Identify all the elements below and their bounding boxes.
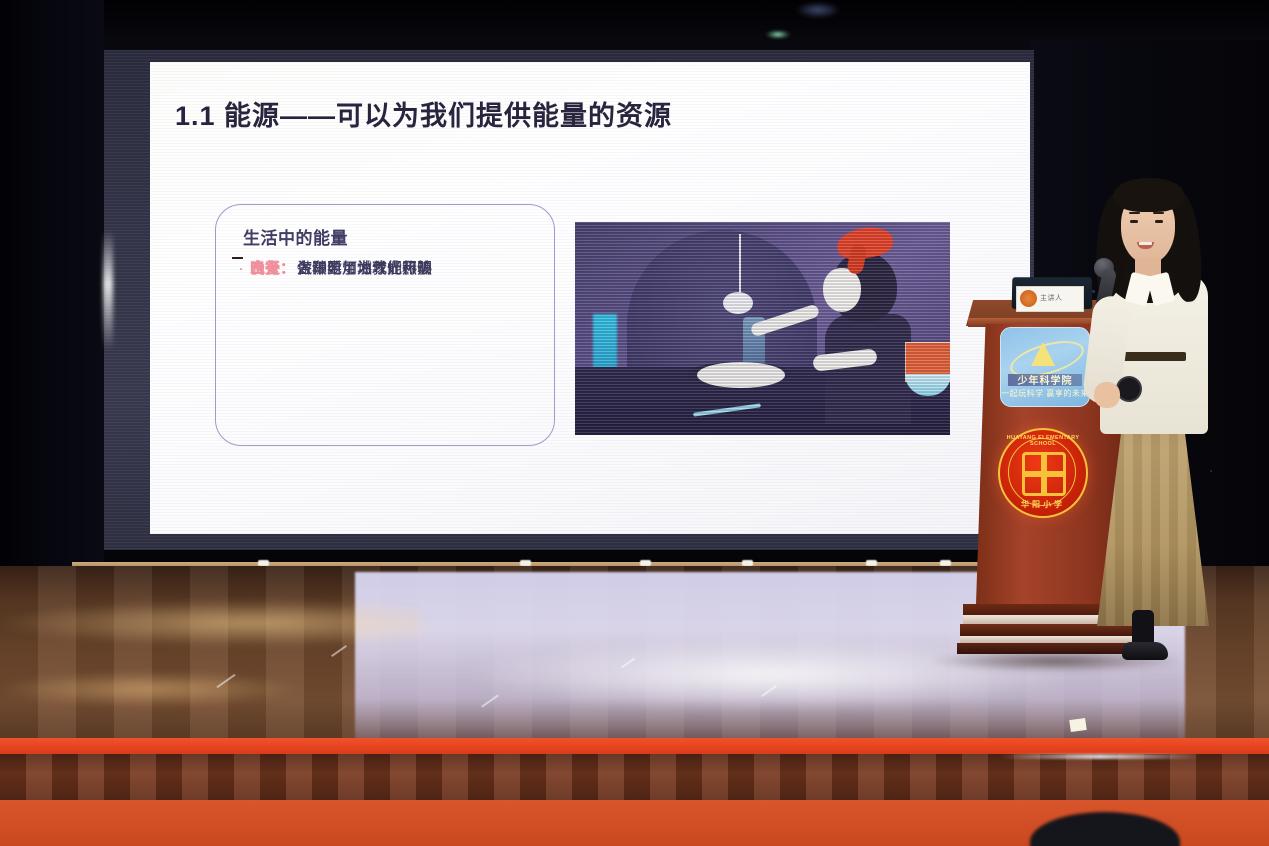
presenter-belt: [1120, 352, 1186, 361]
ceiling-light-glow: [795, 2, 841, 18]
illustration-window-light: [593, 314, 617, 432]
list-item-text: 汽车要加油才能行驶: [297, 257, 432, 278]
illustration-bottle: [743, 317, 765, 373]
illustration-person-body: [825, 314, 911, 424]
illustration-bowl-icon: [905, 374, 950, 396]
illustration-lamp-icon: [723, 292, 753, 314]
wall-light-streak: [103, 230, 113, 350]
stage-apron-wood-panel: [0, 754, 1269, 802]
illustration-pan-handle: [750, 304, 821, 338]
presenter-teeth: [1139, 242, 1152, 245]
floor-warm-reflection: [0, 600, 420, 646]
name-card-logo-icon: [1020, 290, 1037, 307]
floor-warm-reflection: [0, 672, 300, 706]
sign-subtitle: 一起玩科学 赢享的未来: [1001, 388, 1089, 399]
illustration-arch: [627, 230, 817, 435]
projected-slide: 1.1 能源——可以为我们提供能量的资源 生活中的能量 · 白天： 太阳给了地球…: [150, 62, 1030, 534]
youth-science-academy-sign: 少年科学院 一起玩科学 赢享的未来: [1000, 327, 1090, 407]
illustration-pan-icon: [697, 362, 785, 388]
illustration-red-bow-tail: [846, 243, 868, 276]
stage-curtain-left: [0, 0, 104, 600]
panel-heading: 生活中的能量: [243, 224, 348, 249]
emblem-glyph-icon: [1022, 452, 1066, 496]
illustration-person-face: [823, 268, 861, 312]
illustration-red-bow-icon: [835, 224, 895, 262]
illustration-person-hair: [831, 252, 897, 322]
name-card: 主讲人: [1016, 286, 1084, 312]
paper-scrap: [1069, 718, 1087, 732]
emblem-english-text: HUAYANG ELEMENTARY SCHOOL: [1000, 435, 1086, 447]
sign-title: 少年科学院: [1001, 372, 1089, 387]
star-icon: [1031, 342, 1055, 366]
slide-title: 1.1 能源——可以为我们提供能量的资源: [175, 94, 672, 133]
bullet-dot-icon: ·: [232, 261, 250, 276]
stage-apron-red-strip: [0, 738, 1269, 754]
presenter-fringe: [1114, 178, 1184, 212]
green-ceiling-light-icon: [766, 30, 790, 39]
presenter: [1080, 170, 1230, 640]
illustration-stove: [687, 362, 791, 386]
list-item-key: 出行：: [250, 257, 295, 278]
apron-highlight: [1000, 754, 1200, 759]
presenter-hand: [1094, 382, 1120, 408]
school-emblem: HUAYANG ELEMENTARY SCHOOL 华阳小学: [998, 428, 1088, 518]
illustration-box: [905, 342, 950, 382]
bullet-panel: 生活中的能量 · 白天： 太阳给了地球光和热 · 晚上： 各种电灯为我们照明 ·…: [215, 204, 555, 446]
illustration-utensil-icon: [693, 403, 761, 416]
kitchen-cooking-illustration: [575, 222, 950, 435]
auditorium-stage-photo: 1.1 能源——可以为我们提供能量的资源 生活中的能量 · 白天： 太阳给了地球…: [0, 0, 1269, 846]
illustration-lamp-cord: [739, 234, 741, 296]
name-card-text: 主讲人: [1040, 293, 1063, 303]
presenter-shoe: [1122, 642, 1168, 660]
list-item: · 出行： 汽车要加油才能行驶: [232, 257, 243, 259]
illustration-counter: [575, 367, 950, 435]
wristwatch-icon: [1116, 376, 1142, 402]
emblem-chinese-text: 华阳小学: [1000, 499, 1086, 510]
illustration-person-arm: [812, 348, 877, 372]
